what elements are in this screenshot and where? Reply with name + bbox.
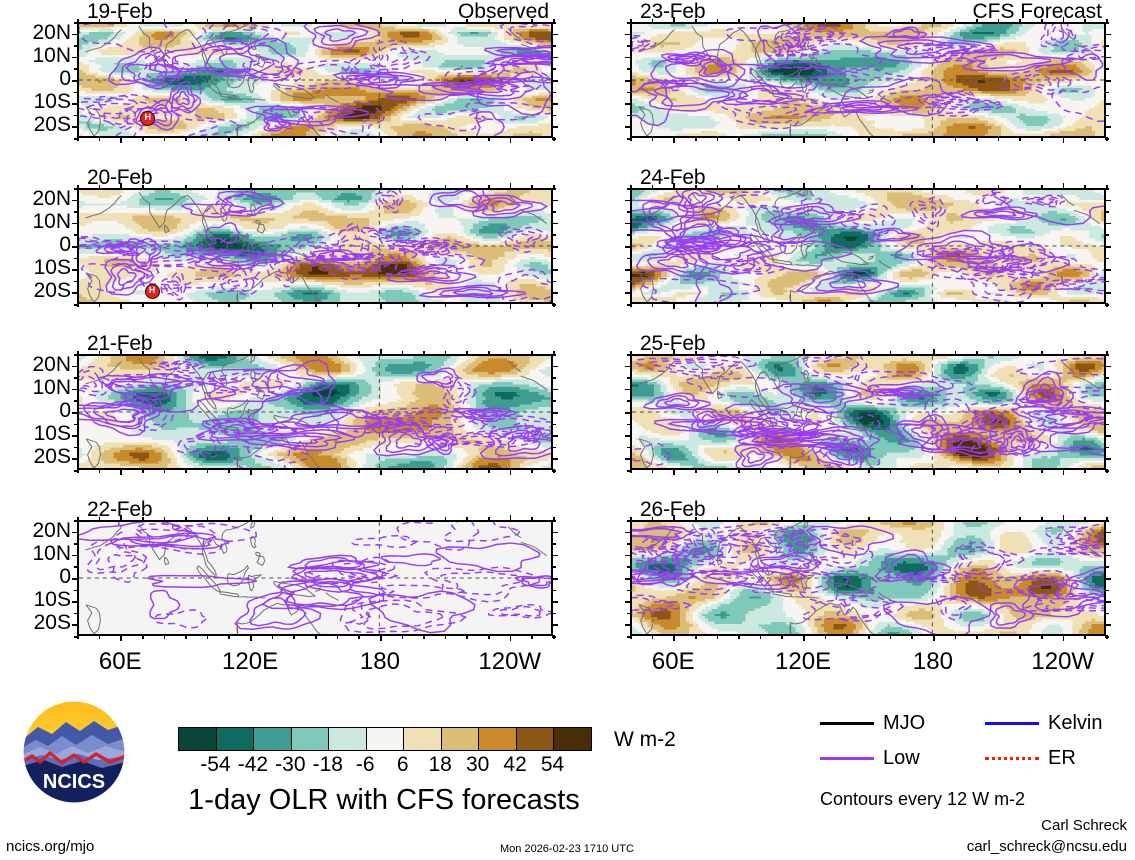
- lon-tick-top: [976, 351, 978, 355]
- lon-tick-top: [207, 351, 209, 355]
- lon-tick-bottom: [717, 303, 719, 307]
- lat-tick-right: [552, 188, 556, 190]
- lon-tick-bottom: [1084, 469, 1086, 473]
- lon-tick-bottom: [99, 635, 101, 639]
- lon-tick-top: [250, 183, 252, 189]
- lon-tick-bottom: [998, 469, 1000, 473]
- lon-tick-top: [358, 185, 360, 189]
- lon-tick-bottom: [738, 635, 740, 639]
- lon-tick-top: [760, 19, 762, 23]
- lon-tick-bottom: [99, 303, 101, 307]
- lon-tick-bottom: [868, 137, 870, 141]
- lon-tick-bottom: [315, 137, 317, 141]
- lon-tick-bottom: [380, 137, 382, 143]
- lon-tick-bottom: [207, 469, 209, 473]
- lon-tick-bottom: [738, 469, 740, 473]
- lon-tick-bottom: [673, 137, 675, 143]
- lat-tick-right: [552, 68, 556, 70]
- lon-tick-top: [1084, 351, 1086, 355]
- contour-interval-note: Contours every 12 W m-2: [820, 789, 1025, 810]
- lon-tick-top: [652, 517, 654, 521]
- lat-tick-right: [1105, 578, 1111, 580]
- lat-tick-right: [1105, 424, 1109, 426]
- lon-tick-bottom: [803, 469, 805, 475]
- lon-tick-top: [142, 19, 144, 23]
- lat-tick-right: [1105, 103, 1111, 105]
- lon-tick-top: [164, 19, 166, 23]
- lon-tick-top: [423, 19, 425, 23]
- y-axis-label: 10N: [1, 44, 71, 68]
- lat-tick-left: [74, 613, 78, 615]
- lon-tick-bottom: [99, 137, 101, 141]
- low-line-swatch: [820, 757, 874, 760]
- olr-shading: [632, 24, 1104, 136]
- lat-tick-right: [1105, 269, 1111, 271]
- lon-tick-top: [825, 185, 827, 189]
- lon-tick-top: [228, 351, 230, 355]
- lat-tick-right: [1105, 211, 1109, 213]
- lon-tick-top: [1041, 185, 1043, 189]
- lat-tick-right: [552, 103, 558, 105]
- lon-tick-top: [695, 517, 697, 521]
- lon-tick-bottom: [315, 469, 317, 473]
- lon-tick-bottom: [911, 137, 913, 141]
- lon-tick-top: [673, 17, 675, 23]
- lon-tick-bottom: [402, 635, 404, 639]
- lon-tick-bottom: [695, 469, 697, 473]
- y-axis-label: 10S: [1, 422, 71, 446]
- lon-tick-bottom: [423, 469, 425, 473]
- lat-tick-left: [74, 68, 78, 70]
- lon-tick-bottom: [976, 635, 978, 639]
- lon-tick-bottom: [531, 469, 533, 473]
- lon-tick-bottom: [358, 137, 360, 141]
- lon-tick-bottom: [315, 635, 317, 639]
- lat-tick-left: [625, 601, 631, 603]
- lon-tick-top: [868, 517, 870, 521]
- lon-tick-top: [998, 351, 1000, 355]
- lon-tick-bottom: [423, 635, 425, 639]
- lon-tick-top: [976, 185, 978, 189]
- colorbar: [178, 727, 592, 751]
- lon-tick-bottom: [250, 303, 252, 309]
- lat-tick-left: [627, 354, 631, 356]
- lon-tick-top: [738, 185, 740, 189]
- lat-tick-left: [625, 366, 631, 368]
- lon-tick-top: [207, 517, 209, 521]
- olr-shading: [632, 522, 1104, 634]
- lat-tick-right: [552, 115, 556, 117]
- lat-tick-right: [552, 223, 558, 225]
- lat-tick-right: [1105, 126, 1111, 128]
- lat-tick-right: [552, 555, 558, 557]
- lon-tick-bottom: [868, 469, 870, 473]
- lon-tick-top: [781, 351, 783, 355]
- lon-tick-top: [228, 185, 230, 189]
- lon-tick-bottom: [445, 137, 447, 141]
- lon-tick-top: [315, 185, 317, 189]
- lon-tick-top: [911, 351, 913, 355]
- lon-tick-bottom: [846, 469, 848, 473]
- lon-tick-bottom: [380, 303, 382, 309]
- lat-tick-left: [627, 400, 631, 402]
- y-axis-label: 20S: [1, 445, 71, 469]
- lon-tick-bottom: [955, 303, 957, 307]
- lon-tick-bottom: [185, 635, 187, 639]
- lon-tick-top: [120, 515, 122, 521]
- lat-tick-left: [74, 377, 78, 379]
- lon-tick-top: [488, 517, 490, 521]
- lon-tick-top: [337, 185, 339, 189]
- lon-tick-bottom: [1063, 469, 1065, 475]
- lat-tick-left: [625, 269, 631, 271]
- lat-tick-right: [552, 377, 556, 379]
- lon-tick-bottom: [315, 303, 317, 307]
- lat-tick-left: [625, 57, 631, 59]
- lat-tick-left: [74, 520, 78, 522]
- y-axis-label: 10S: [1, 256, 71, 280]
- lon-tick-bottom: [1063, 303, 1065, 309]
- y-axis-label: 20S: [1, 611, 71, 635]
- lon-tick-top: [955, 517, 957, 521]
- lon-tick-top: [868, 19, 870, 23]
- lon-tick-bottom: [250, 137, 252, 143]
- lon-tick-bottom: [868, 303, 870, 307]
- lat-tick-left: [627, 424, 631, 426]
- lon-tick-top: [272, 19, 274, 23]
- lon-tick-bottom: [293, 303, 295, 307]
- lon-tick-bottom: [890, 635, 892, 639]
- lat-tick-right: [1105, 45, 1109, 47]
- lat-tick-right: [1105, 281, 1109, 283]
- lon-tick-top: [911, 19, 913, 23]
- lat-tick-right: [1105, 613, 1109, 615]
- tropical-cyclone-marker: H: [145, 284, 160, 299]
- lon-tick-bottom: [717, 137, 719, 141]
- lon-tick-bottom: [695, 303, 697, 307]
- lat-tick-right: [1105, 435, 1111, 437]
- lon-tick-bottom: [911, 303, 913, 307]
- lon-tick-top: [272, 185, 274, 189]
- lon-tick-bottom: [228, 635, 230, 639]
- lon-tick-top: [652, 351, 654, 355]
- lon-tick-bottom: [466, 469, 468, 473]
- lat-tick-right: [1105, 520, 1109, 522]
- lon-tick-bottom: [164, 469, 166, 473]
- lon-tick-top: [423, 351, 425, 355]
- colorbar-swatch: [328, 728, 366, 750]
- lat-tick-left: [625, 200, 631, 202]
- lon-tick-bottom: [781, 137, 783, 141]
- lon-tick-bottom: [164, 303, 166, 307]
- lon-tick-top: [445, 517, 447, 521]
- lon-tick-bottom: [652, 137, 654, 141]
- lat-tick-right: [1105, 234, 1109, 236]
- lon-tick-top: [1041, 351, 1043, 355]
- colorbar-swatch: [403, 728, 441, 750]
- lon-tick-top: [911, 185, 913, 189]
- lon-tick-top: [998, 19, 1000, 23]
- lon-tick-bottom: [293, 635, 295, 639]
- lon-tick-top: [185, 351, 187, 355]
- lon-tick-bottom: [142, 469, 144, 473]
- lat-tick-right: [1105, 601, 1111, 603]
- lon-tick-bottom: [207, 635, 209, 639]
- lon-tick-bottom: [652, 469, 654, 473]
- lon-tick-bottom: [228, 303, 230, 307]
- lat-tick-left: [72, 34, 78, 36]
- lat-tick-left: [74, 234, 78, 236]
- lon-tick-bottom: [445, 635, 447, 639]
- lon-tick-bottom: [825, 469, 827, 473]
- lat-tick-right: [1105, 57, 1111, 59]
- lat-tick-left: [627, 281, 631, 283]
- lon-tick-top: [1063, 515, 1065, 521]
- lon-tick-bottom: [250, 635, 252, 641]
- lon-tick-bottom: [337, 303, 339, 307]
- lon-tick-bottom: [803, 303, 805, 309]
- lon-tick-bottom: [955, 137, 957, 141]
- lat-tick-right: [552, 304, 556, 306]
- y-axis-label: 0: [1, 565, 71, 589]
- lat-tick-left: [72, 103, 78, 105]
- lon-tick-bottom: [868, 635, 870, 639]
- lon-tick-bottom: [531, 137, 533, 141]
- lon-tick-top: [760, 351, 762, 355]
- lat-tick-right: [552, 520, 556, 522]
- lon-tick-top: [510, 183, 512, 189]
- lat-tick-right: [1105, 138, 1109, 140]
- lat-tick-left: [627, 566, 631, 568]
- lon-tick-top: [293, 351, 295, 355]
- lon-tick-top: [164, 517, 166, 521]
- lon-tick-bottom: [998, 635, 1000, 639]
- lon-tick-top: [1063, 183, 1065, 189]
- lat-tick-right: [552, 211, 556, 213]
- lon-tick-bottom: [510, 137, 512, 143]
- lat-tick-right: [552, 590, 556, 592]
- lon-tick-bottom: [423, 137, 425, 141]
- lon-tick-bottom: [1019, 303, 1021, 307]
- lat-tick-left: [72, 246, 78, 248]
- lat-tick-left: [74, 566, 78, 568]
- colorbar-swatch: [441, 728, 479, 750]
- lon-tick-bottom: [272, 303, 274, 307]
- colorbar-swatch: [478, 728, 516, 750]
- lat-tick-left: [74, 543, 78, 545]
- lon-tick-bottom: [337, 469, 339, 473]
- lon-tick-top: [1041, 517, 1043, 521]
- lon-tick-bottom: [911, 635, 913, 639]
- lon-tick-top: [207, 19, 209, 23]
- lon-tick-bottom: [510, 303, 512, 309]
- lat-tick-right: [552, 624, 558, 626]
- lon-tick-bottom: [531, 635, 533, 639]
- lat-tick-right: [1105, 412, 1111, 414]
- lon-tick-top: [445, 351, 447, 355]
- lon-tick-top: [423, 517, 425, 521]
- lon-tick-bottom: [976, 469, 978, 473]
- lon-tick-bottom: [890, 303, 892, 307]
- lon-tick-top: [781, 517, 783, 521]
- x-axis-label: 60E: [99, 648, 142, 676]
- lon-tick-bottom: [510, 469, 512, 475]
- y-axis-label: 20N: [1, 519, 71, 543]
- lon-tick-bottom: [976, 137, 978, 141]
- olr-shading: [632, 190, 1104, 302]
- lon-tick-top: [99, 185, 101, 189]
- lat-tick-right: [552, 200, 558, 202]
- lon-tick-top: [933, 17, 935, 23]
- lon-tick-bottom: [402, 469, 404, 473]
- lat-tick-left: [625, 555, 631, 557]
- x-axis-label: 180: [360, 648, 400, 676]
- lon-tick-top: [293, 19, 295, 23]
- author-email: carl_schreck@ncsu.edu: [967, 838, 1127, 855]
- y-axis-label: 10N: [1, 542, 71, 566]
- lat-tick-left: [72, 292, 78, 294]
- lat-tick-right: [1105, 258, 1109, 260]
- lon-tick-bottom: [358, 303, 360, 307]
- lon-tick-bottom: [955, 469, 957, 473]
- lon-tick-top: [1019, 351, 1021, 355]
- lat-tick-right: [1105, 400, 1109, 402]
- lon-tick-top: [1084, 185, 1086, 189]
- lon-tick-top: [488, 351, 490, 355]
- y-axis-label: 20N: [1, 187, 71, 211]
- lon-tick-top: [380, 349, 382, 355]
- lon-tick-top: [531, 517, 533, 521]
- lon-tick-top: [402, 185, 404, 189]
- lon-tick-top: [293, 517, 295, 521]
- lon-tick-top: [803, 17, 805, 23]
- lon-tick-bottom: [846, 137, 848, 141]
- lon-tick-bottom: [976, 303, 978, 307]
- lon-tick-bottom: [164, 137, 166, 141]
- lon-tick-top: [228, 19, 230, 23]
- y-axis-label: 20N: [1, 21, 71, 45]
- lat-tick-left: [74, 45, 78, 47]
- site-url: ncics.org/mjo: [6, 838, 94, 855]
- lat-tick-right: [1105, 543, 1109, 545]
- lat-tick-left: [74, 115, 78, 117]
- lon-tick-bottom: [488, 137, 490, 141]
- lat-tick-right: [552, 424, 556, 426]
- lon-tick-bottom: [738, 137, 740, 141]
- lon-tick-top: [488, 185, 490, 189]
- lat-tick-right: [1105, 92, 1109, 94]
- lon-tick-top: [142, 351, 144, 355]
- lon-tick-top: [185, 185, 187, 189]
- lat-tick-left: [74, 447, 78, 449]
- lon-tick-bottom: [488, 635, 490, 639]
- lon-tick-top: [380, 183, 382, 189]
- lat-tick-left: [72, 200, 78, 202]
- lat-tick-left: [72, 601, 78, 603]
- lon-tick-bottom: [933, 635, 935, 641]
- lat-tick-right: [552, 34, 558, 36]
- er-line-swatch: [985, 757, 1039, 760]
- kelvin-line-swatch: [985, 722, 1039, 725]
- lon-tick-top: [337, 19, 339, 23]
- lat-tick-right: [1105, 22, 1109, 24]
- lon-tick-bottom: [673, 469, 675, 475]
- lon-tick-bottom: [760, 137, 762, 141]
- legend-item-low: Low: [820, 747, 920, 770]
- lat-tick-right: [552, 281, 556, 283]
- lon-tick-bottom: [933, 303, 935, 309]
- olr-shading: [79, 356, 551, 468]
- lon-tick-top: [120, 349, 122, 355]
- lat-tick-right: [1105, 292, 1111, 294]
- lon-tick-bottom: [142, 137, 144, 141]
- lat-tick-left: [74, 590, 78, 592]
- lon-tick-bottom: [207, 137, 209, 141]
- column-header-observed: Observed: [458, 0, 549, 24]
- lat-tick-left: [72, 389, 78, 391]
- lat-tick-left: [625, 624, 631, 626]
- lat-tick-left: [74, 400, 78, 402]
- lat-tick-left: [625, 532, 631, 534]
- lon-tick-top: [868, 185, 870, 189]
- lon-tick-top: [99, 351, 101, 355]
- lon-tick-bottom: [890, 469, 892, 473]
- lon-tick-top: [466, 351, 468, 355]
- lon-tick-bottom: [760, 635, 762, 639]
- lon-tick-bottom: [1084, 303, 1086, 307]
- legend-item-kelvin: Kelvin: [985, 712, 1102, 735]
- lat-tick-left: [627, 636, 631, 638]
- lat-tick-right: [552, 366, 558, 368]
- lon-tick-bottom: [164, 635, 166, 639]
- lon-tick-top: [825, 19, 827, 23]
- y-axis-label: 20S: [1, 113, 71, 137]
- lon-tick-bottom: [738, 303, 740, 307]
- lon-tick-bottom: [1019, 469, 1021, 473]
- lon-tick-bottom: [380, 635, 382, 641]
- y-axis-label: 10S: [1, 588, 71, 612]
- lon-tick-bottom: [1063, 635, 1065, 641]
- lat-tick-right: [552, 57, 558, 59]
- x-axis-label: 180: [913, 648, 953, 676]
- lon-tick-top: [933, 349, 935, 355]
- lat-tick-left: [627, 520, 631, 522]
- lat-tick-left: [625, 223, 631, 225]
- lat-tick-left: [72, 458, 78, 460]
- lat-tick-right: [1105, 366, 1111, 368]
- lon-tick-bottom: [890, 137, 892, 141]
- lon-tick-top: [803, 349, 805, 355]
- lon-tick-top: [466, 19, 468, 23]
- colorbar-swatch: [253, 728, 291, 750]
- lon-tick-bottom: [781, 303, 783, 307]
- lon-tick-bottom: [293, 469, 295, 473]
- lat-tick-left: [74, 92, 78, 94]
- lat-tick-left: [625, 412, 631, 414]
- lon-tick-bottom: [120, 469, 122, 475]
- olr-shading: [79, 522, 551, 634]
- lon-tick-bottom: [825, 137, 827, 141]
- lat-tick-right: [552, 354, 556, 356]
- lat-tick-right: [552, 246, 558, 248]
- lon-tick-top: [673, 515, 675, 521]
- lat-tick-right: [1105, 34, 1111, 36]
- lon-tick-bottom: [933, 469, 935, 475]
- lat-tick-left: [72, 624, 78, 626]
- lon-tick-bottom: [717, 469, 719, 473]
- lon-tick-bottom: [120, 303, 122, 309]
- lat-tick-right: [552, 447, 556, 449]
